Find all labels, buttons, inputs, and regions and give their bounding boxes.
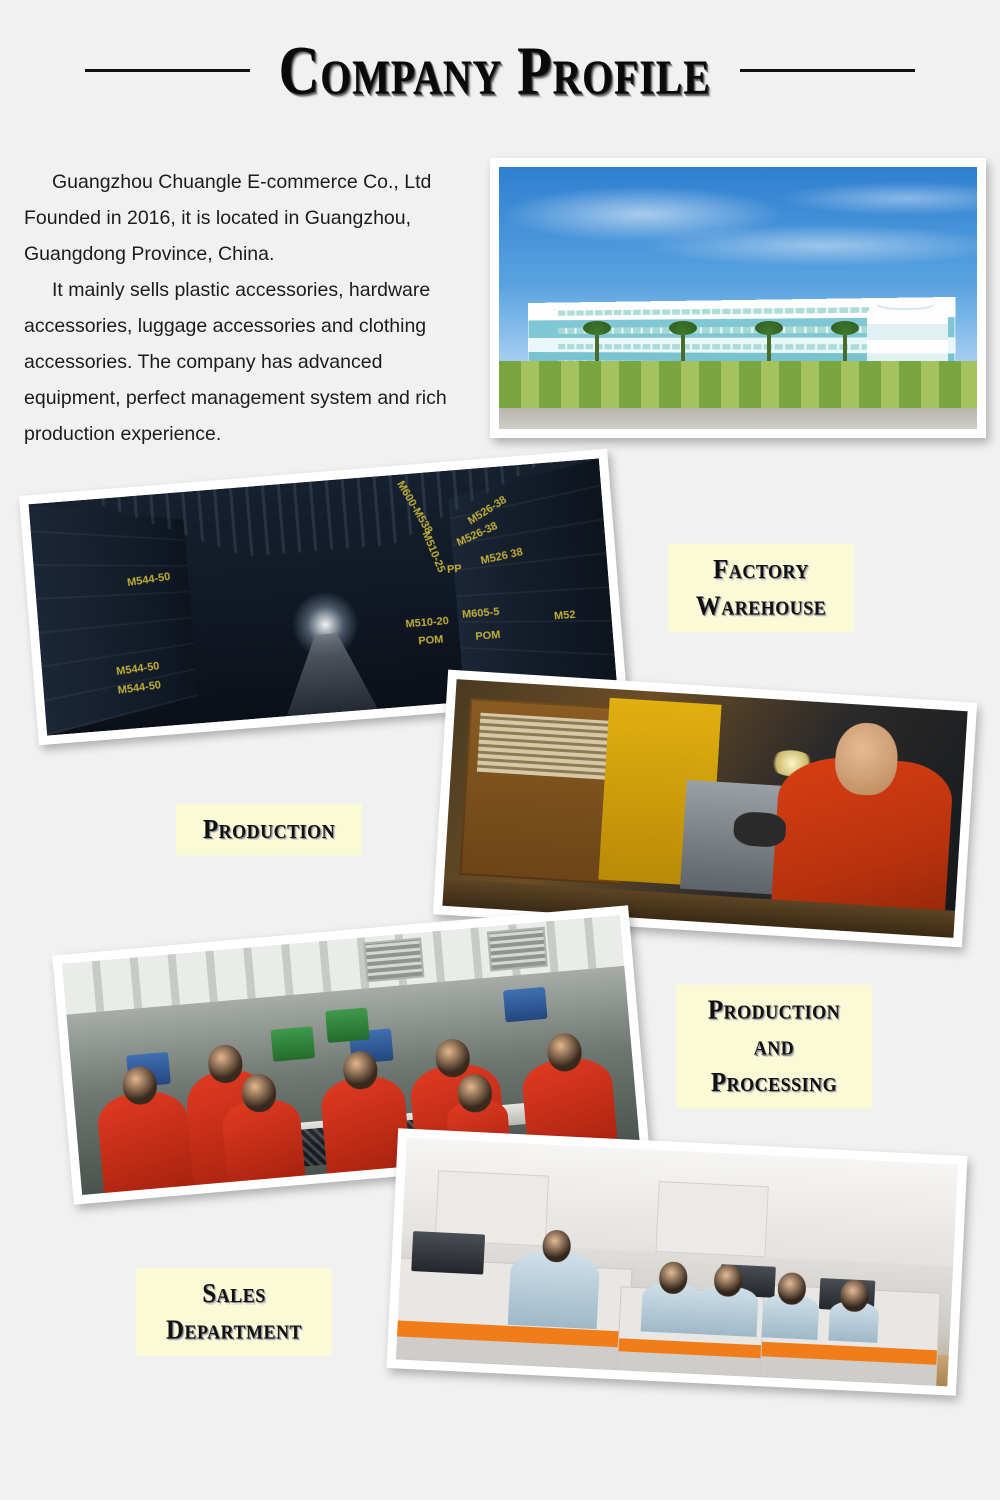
mould-label: M52	[554, 609, 576, 623]
office-staff	[640, 1283, 703, 1335]
title-rule-left	[85, 69, 250, 72]
page-title: Company Profile	[258, 30, 733, 109]
factory-building-photo	[490, 158, 986, 438]
wall-vent	[486, 926, 547, 971]
assembly-worker	[96, 1088, 194, 1193]
caption-sales-department: Sales Department	[136, 1268, 332, 1356]
caption-factory-warehouse: Factory Warehouse	[668, 544, 854, 632]
caption-production: Production	[176, 804, 362, 856]
office-photo	[386, 1128, 967, 1396]
office-staff	[696, 1285, 759, 1337]
storage-rack-left	[29, 504, 198, 735]
office-staff	[508, 1249, 600, 1329]
caption-production-processing: Production and Processing	[676, 984, 872, 1108]
garden-hedges	[499, 361, 977, 408]
intro-paragraph-2: It mainly sells plastic accessories, har…	[24, 272, 476, 452]
computer-monitor	[411, 1231, 485, 1274]
tool-drawers	[476, 712, 613, 779]
title-rule-right	[740, 69, 915, 72]
assembly-worker	[220, 1097, 305, 1182]
intro-paragraph-1: Guangzhou Chuangle E-commerce Co., Ltd F…	[24, 164, 476, 272]
workshop-image	[442, 679, 967, 938]
window-band	[558, 307, 869, 316]
wall-vent	[364, 937, 425, 982]
company-intro: Guangzhou Chuangle E-commerce Co., Ltd F…	[24, 164, 476, 452]
office-staff	[762, 1293, 819, 1340]
page-header: Company Profile	[0, 0, 1000, 140]
factory-building-image	[499, 167, 977, 429]
parts-bin	[325, 1007, 370, 1043]
mould-label: POM	[475, 629, 501, 643]
office-staff	[828, 1301, 880, 1343]
window-band	[558, 344, 869, 350]
wall-panel	[655, 1181, 769, 1257]
office-image	[396, 1138, 958, 1387]
workshop-photo	[433, 670, 977, 948]
road	[499, 408, 977, 429]
work-glove	[733, 810, 787, 847]
mould-label: POM	[418, 634, 444, 648]
parts-bin	[503, 987, 548, 1023]
parts-bin	[270, 1026, 315, 1062]
mould-label: PP	[447, 563, 463, 576]
roof-cap	[877, 298, 934, 308]
